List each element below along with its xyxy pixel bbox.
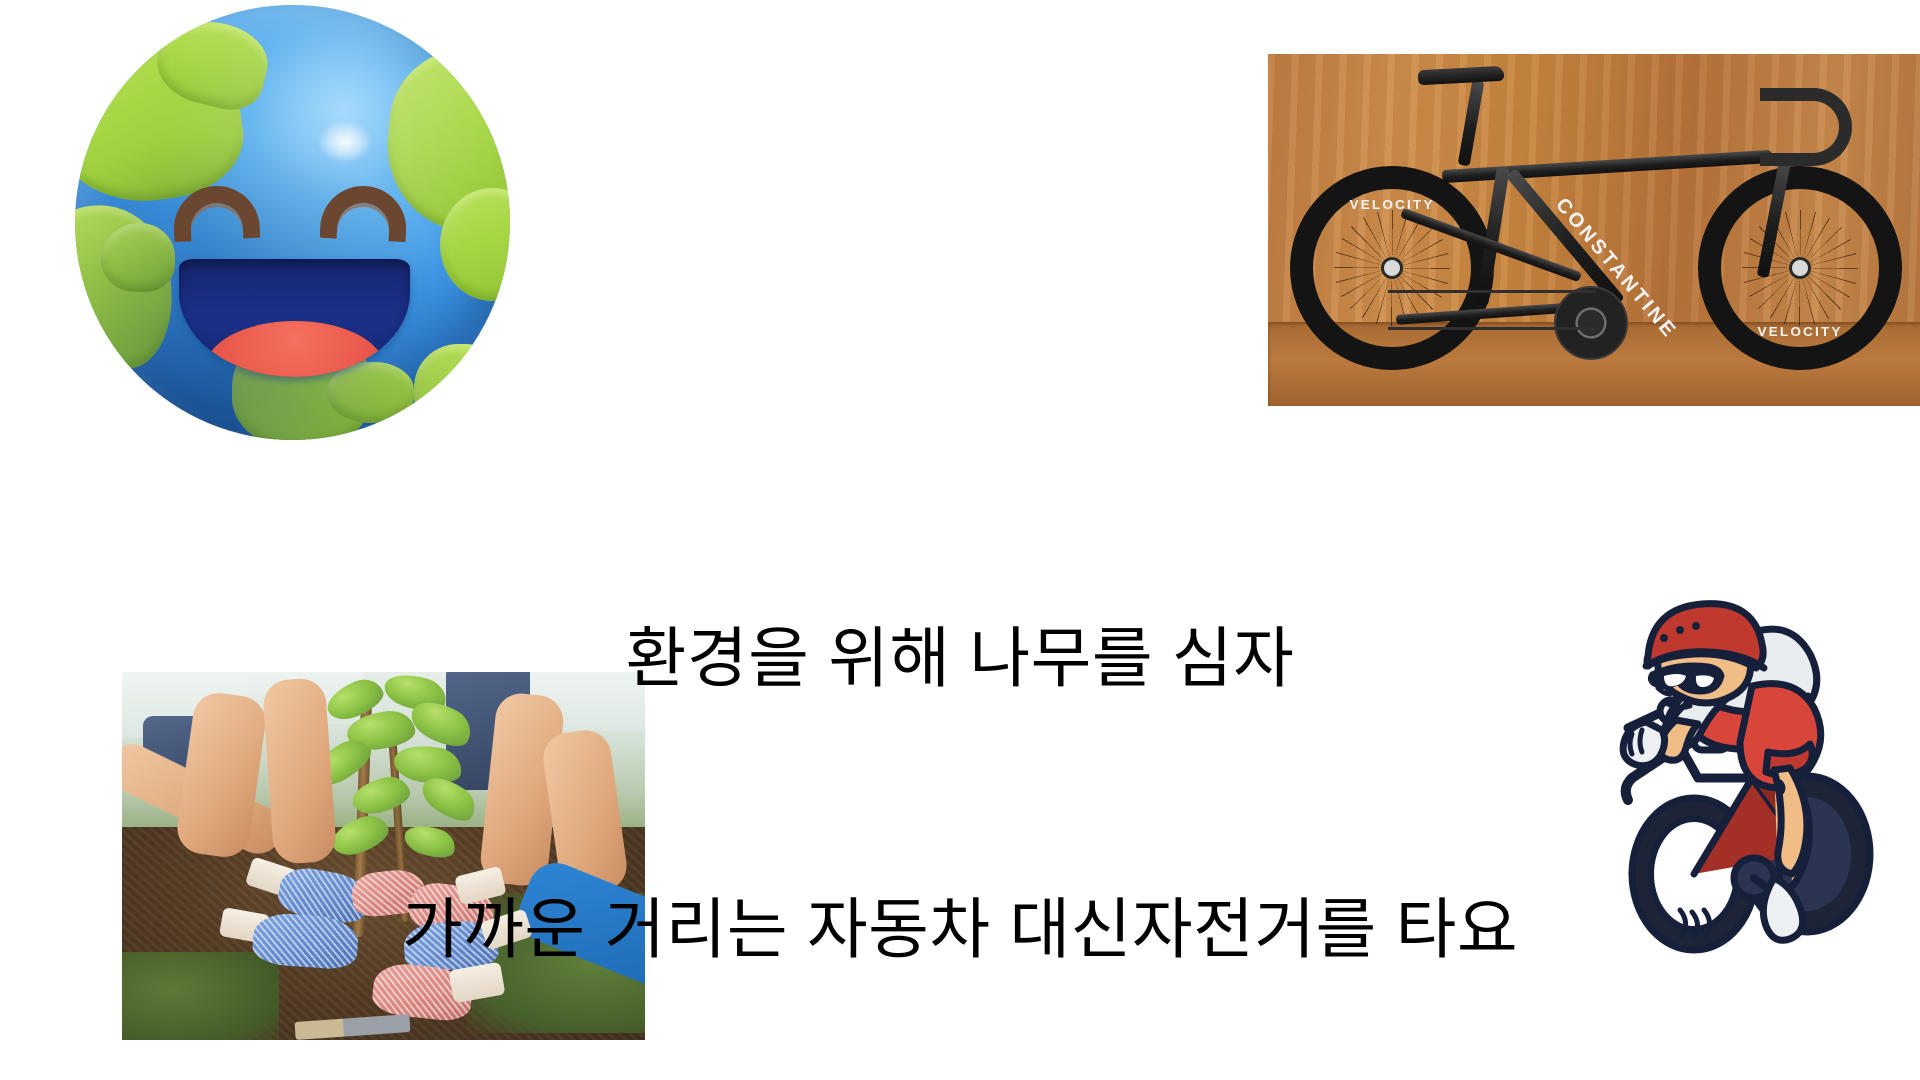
- headline-line-1: 환경을 위해 나무를 심자: [0, 613, 1920, 703]
- smiling-earth-globe-emoji: [75, 5, 510, 440]
- globe-landmass-bottom-right: [414, 344, 510, 440]
- rear-hub: [1384, 260, 1400, 276]
- bicycle-chain: [1388, 290, 1596, 330]
- globe-mouth: [179, 259, 410, 376]
- bicycle-front-wheel: VELOCITY: [1698, 166, 1902, 370]
- globe-tongue: [205, 321, 385, 377]
- globe-landmass-left-2: [101, 223, 175, 293]
- globe-highlight: [319, 122, 371, 162]
- globe-sphere: [75, 5, 510, 440]
- front-hub: [1792, 260, 1808, 276]
- front-rim-label: VELOCITY: [1757, 324, 1842, 339]
- page-title: 환경을 위해 나무를 심자 가까운 거리는 자동차 대신자전거를 타요: [0, 432, 1920, 1080]
- rear-rim-label: VELOCITY: [1349, 197, 1434, 212]
- headline-line-2: 가까운 거리는 자동차 대신자전거를 타요: [0, 884, 1920, 974]
- globe-right-eye-icon: [319, 183, 408, 241]
- slide-canvas: VELOCITY VELOCITY CONSTANTINE: [0, 0, 1920, 1080]
- bicycle-handlebar: [1760, 88, 1852, 166]
- track-bicycle-photo: VELOCITY VELOCITY CONSTANTINE: [1268, 54, 1920, 406]
- bicycle-rear-wheel: VELOCITY: [1290, 166, 1494, 370]
